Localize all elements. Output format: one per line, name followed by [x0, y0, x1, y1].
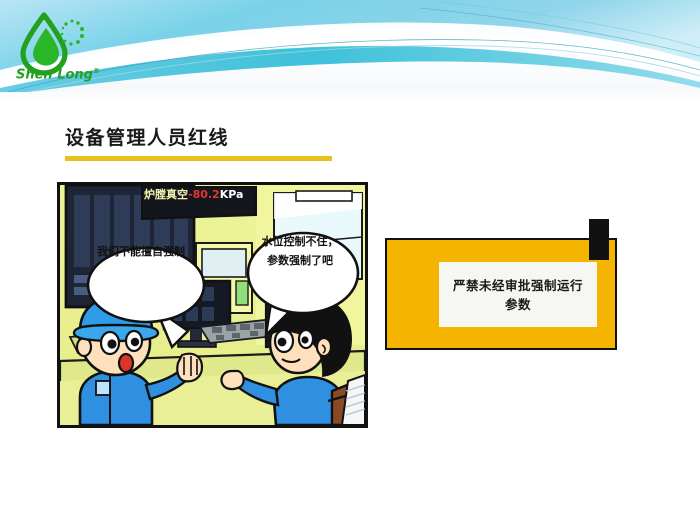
- brand-logo: Shen Long®: [14, 12, 100, 88]
- brand-registered-mark: ®: [93, 67, 100, 75]
- brand-name: Shen Long®: [16, 67, 100, 82]
- speech-bubble-right-text: 水位控制不住， 参数强制了吧: [242, 232, 358, 270]
- warning-callout-text: 严禁未经审批强制运行 参数: [439, 276, 597, 314]
- brand-name-text: Shen Long: [16, 67, 93, 82]
- header-banner: Shen Long®: [0, 0, 700, 98]
- speech-bubble-left-text: 我们不能擅自强制: [82, 244, 200, 259]
- page-title: 设备管理人员红线: [65, 126, 425, 150]
- title-underline-rule: [65, 156, 332, 161]
- readout-value: -80.2: [188, 188, 220, 201]
- cartoon-illustration: [57, 182, 368, 428]
- readout-label: 炉膛真空: [144, 188, 188, 201]
- readout-unit: KPa: [220, 188, 244, 201]
- warning-callout-inner: 严禁未经审批强制运行 参数: [439, 262, 597, 327]
- header-wave-graphic: [0, 0, 700, 98]
- page-title-block: 设备管理人员红线: [65, 126, 425, 161]
- furnace-vacuum-readout: 炉膛真空-80.2KPa: [144, 186, 243, 202]
- callout-black-tab: [589, 219, 609, 260]
- control-room-scene: [60, 185, 365, 425]
- slide-canvas: Shen Long® 设备管理人员红线: [0, 0, 700, 525]
